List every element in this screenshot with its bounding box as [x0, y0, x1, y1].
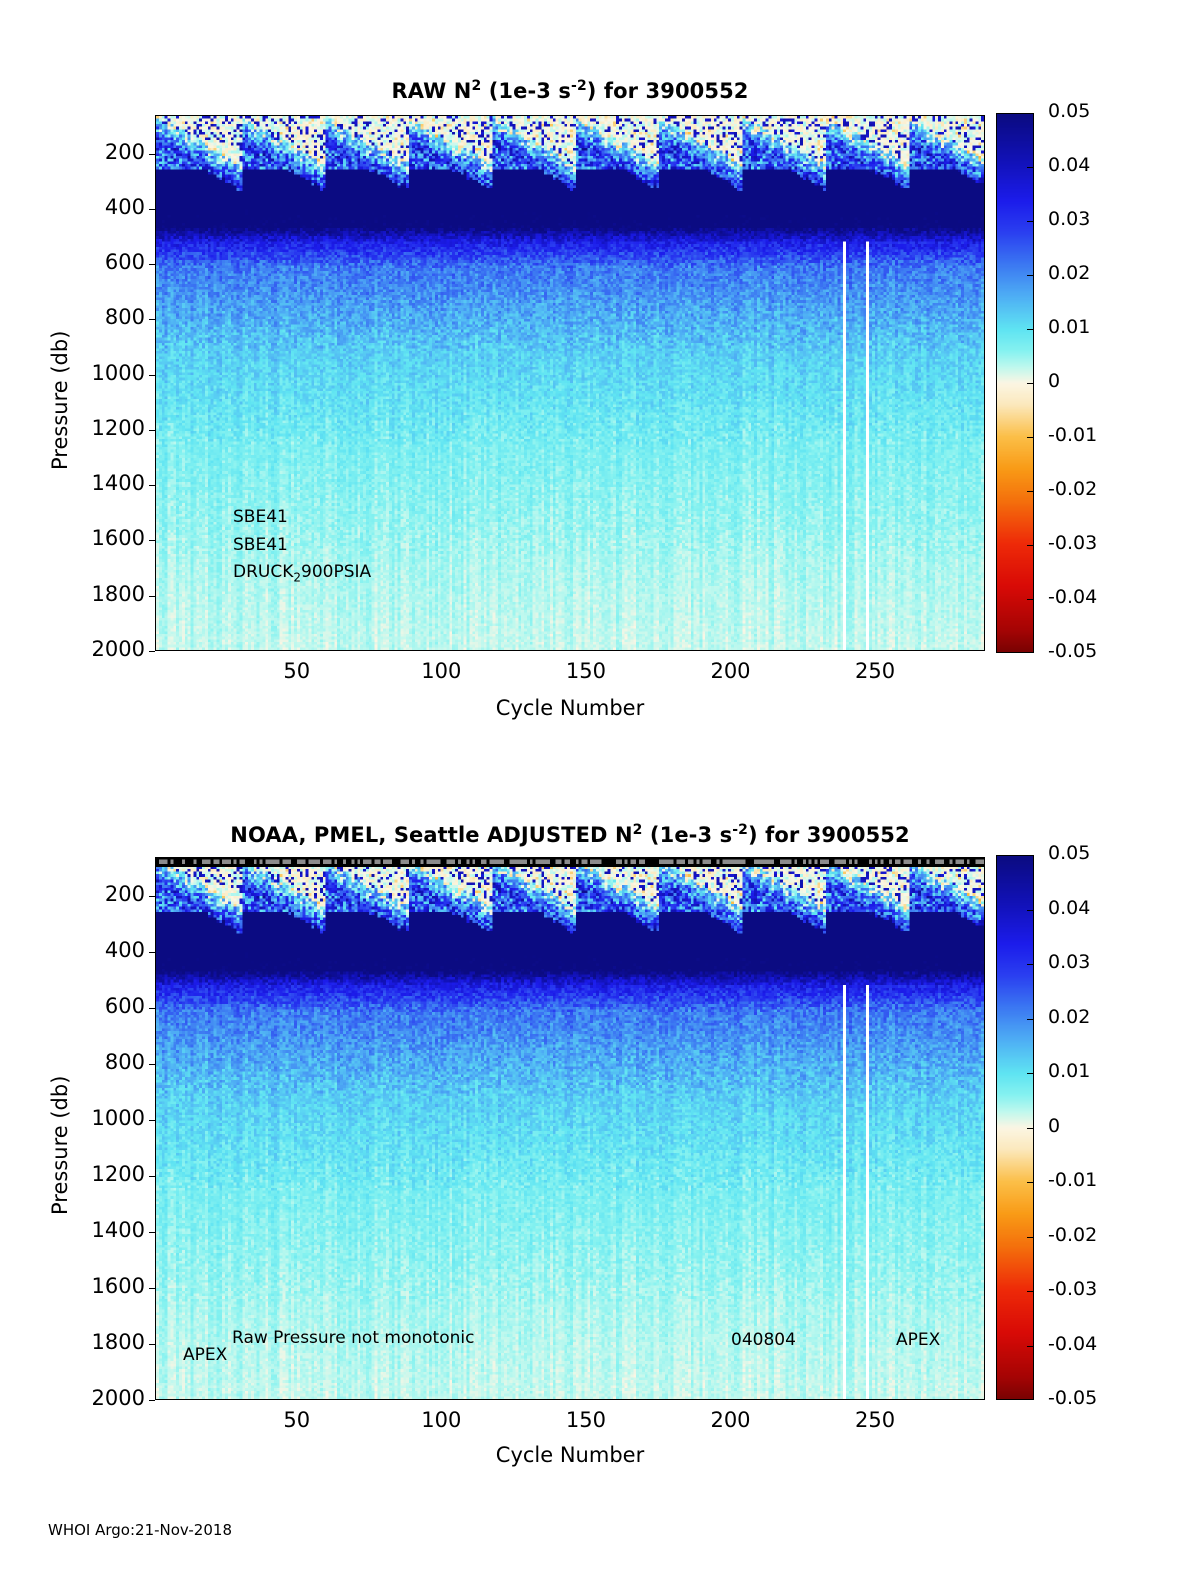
- colorbar-tick-mark-0-6: [1027, 437, 1034, 438]
- colorbar-tick-mark-0-9: [1027, 599, 1034, 600]
- plot-title-raw: RAW N2 (1e-3 s-2) for 3900552: [155, 78, 985, 103]
- colorbar-tick-mark-0-7: [1027, 491, 1034, 492]
- colorbar-tick-label-0-10: -0.05: [1048, 640, 1097, 662]
- y-tick-label-1-1000: 1000: [47, 1106, 145, 1130]
- y-tick-mark-0-1800: [149, 596, 155, 597]
- colorbar-tick-mark-1-8: [1027, 1291, 1034, 1292]
- y-tick-label-1-1400: 1400: [47, 1218, 145, 1242]
- annotation-druck-text: DRUCK: [233, 562, 293, 582]
- y-tick-mark-0-800: [149, 319, 155, 320]
- colorbar-tick-mark-0-5: [1027, 383, 1034, 384]
- x-tick-label-1-50: 50: [255, 1408, 339, 1432]
- colorbar-tick-label-0-7: -0.02: [1048, 478, 1097, 500]
- y-tick-mark-0-1600: [149, 540, 155, 541]
- title-text-mid: (1e-3 s: [481, 79, 571, 103]
- y-tick-mark-1-1200: [149, 1176, 155, 1177]
- colorbar-tick-mark-0-1: [1027, 167, 1034, 168]
- y-tick-mark-1-2000: [149, 1400, 155, 1401]
- y-tick-mark-1-1000: [149, 1120, 155, 1121]
- colorbar-tick-label-1-7: -0.02: [1048, 1224, 1097, 1246]
- colorbar-tick-mark-0-3: [1027, 275, 1034, 276]
- colorbar-tick-mark-1-9: [1027, 1346, 1034, 1347]
- annotation-apex-left: APEX: [183, 1345, 227, 1365]
- annotation-apex-right: APEX: [896, 1330, 940, 1350]
- colorbar-tick-label-0-1: 0.04: [1048, 154, 1090, 176]
- y-tick-label-1-200: 200: [47, 882, 145, 906]
- colorbar-tick-mark-1-5: [1027, 1128, 1034, 1129]
- colorbar-tick-label-0-8: -0.03: [1048, 532, 1097, 554]
- y-tick-label-0-600: 600: [47, 250, 145, 274]
- y-tick-label-0-1400: 1400: [47, 471, 145, 495]
- annotation-sbe41-b: SBE41: [233, 535, 288, 555]
- y-tick-mark-0-2000: [149, 651, 155, 652]
- colorbar-tick-label-0-4: 0.01: [1048, 316, 1090, 338]
- annotation-float-code: 040804: [731, 1330, 796, 1350]
- y-tick-mark-1-1600: [149, 1288, 155, 1289]
- figure-footer: WHOI Argo:21-Nov-2018: [48, 1521, 232, 1539]
- colorbar-tick-label-1-5: 0: [1048, 1115, 1060, 1137]
- title-superscript-minus2: -2: [571, 78, 587, 94]
- y-tick-mark-0-400: [149, 209, 155, 210]
- y-axis-label-raw: Pressure (db): [48, 331, 72, 470]
- y-tick-mark-0-1200: [149, 430, 155, 431]
- colorbar-tick-mark-1-4: [1027, 1073, 1034, 1074]
- colorbar-tick-label-0-3: 0.02: [1048, 262, 1090, 284]
- y-axis-label-adjusted: Pressure (db): [48, 1076, 72, 1215]
- title-superscript-2: 2: [471, 78, 481, 94]
- colorbar-tick-mark-1-6: [1027, 1182, 1034, 1183]
- colorbar-tick-mark-1-3: [1027, 1019, 1034, 1020]
- y-tick-label-0-200: 200: [47, 140, 145, 164]
- plot-title-adjusted: NOAA, PMEL, Seattle ADJUSTED N2 (1e-3 s-…: [100, 822, 1040, 847]
- x-tick-label-0-50: 50: [255, 659, 339, 683]
- y-tick-label-1-2000: 2000: [47, 1386, 145, 1410]
- colorbar-tick-label-1-3: 0.02: [1048, 1006, 1090, 1028]
- title-adj-text-end: ) for 3900552: [748, 823, 910, 847]
- x-tick-label-0-150: 150: [544, 659, 628, 683]
- y-tick-label-1-800: 800: [47, 1050, 145, 1074]
- colorbar-tick-label-1-1: 0.04: [1048, 897, 1090, 919]
- colorbar-tick-label-1-4: 0.01: [1048, 1060, 1090, 1082]
- x-tick-label-1-100: 100: [399, 1408, 483, 1432]
- y-tick-mark-0-1000: [149, 375, 155, 376]
- x-tick-label-1-150: 150: [544, 1408, 628, 1432]
- x-axis-label-adjusted: Cycle Number: [155, 1443, 985, 1467]
- colorbar-tick-label-0-9: -0.04: [1048, 586, 1097, 608]
- x-tick-label-1-200: 200: [689, 1408, 773, 1432]
- colorbar-tick-label-0-0: 0.05: [1048, 100, 1090, 122]
- y-tick-label-1-1800: 1800: [47, 1330, 145, 1354]
- colorbar-tick-mark-0-2: [1027, 221, 1034, 222]
- x-axis-label-raw: Cycle Number: [155, 696, 985, 720]
- y-tick-label-0-1800: 1800: [47, 582, 145, 606]
- annotation-pressure-not-monotonic: Raw Pressure not monotonic: [232, 1328, 474, 1348]
- y-tick-mark-0-600: [149, 264, 155, 265]
- y-tick-label-1-1200: 1200: [47, 1162, 145, 1186]
- y-tick-mark-1-800: [149, 1064, 155, 1065]
- heatmap-plot-adjusted[interactable]: [155, 857, 985, 1400]
- annotation-druck-subscript: 2: [293, 570, 301, 584]
- colorbar-tick-label-1-8: -0.03: [1048, 1278, 1097, 1300]
- colorbar-tick-mark-1-2: [1027, 964, 1034, 965]
- heatmap-canvas-adjusted: [156, 858, 984, 1399]
- y-tick-mark-1-1800: [149, 1344, 155, 1345]
- colorbar-tick-mark-0-4: [1027, 329, 1034, 330]
- title-adj-superscript-minus2: -2: [732, 822, 748, 838]
- x-tick-label-0-250: 250: [833, 659, 917, 683]
- title-adj-text-mid: (1e-3 s: [643, 823, 733, 847]
- y-tick-mark-0-1400: [149, 485, 155, 486]
- title-adj-superscript-2: 2: [633, 822, 643, 838]
- colorbar-tick-label-0-6: -0.01: [1048, 424, 1097, 446]
- y-tick-mark-1-1400: [149, 1232, 155, 1233]
- colorbar-tick-mark-1-1: [1027, 910, 1034, 911]
- colorbar-tick-mark-1-7: [1027, 1237, 1034, 1238]
- y-tick-label-0-1000: 1000: [47, 361, 145, 385]
- colorbar-tick-label-1-9: -0.04: [1048, 1333, 1097, 1355]
- colorbar-tick-label-1-6: -0.01: [1048, 1169, 1097, 1191]
- annotation-druck-sensor: DRUCK2900PSIA: [233, 562, 371, 584]
- colorbar-tick-label-1-10: -0.05: [1048, 1387, 1097, 1409]
- colorbar-tick-label-1-2: 0.03: [1048, 951, 1090, 973]
- colorbar-tick-label-0-5: 0: [1048, 370, 1060, 392]
- annotation-sbe41-a: SBE41: [233, 507, 288, 527]
- y-tick-label-0-1200: 1200: [47, 416, 145, 440]
- qc-flag-strip: [156, 858, 984, 867]
- y-tick-label-0-1600: 1600: [47, 526, 145, 550]
- title-text-end: ) for 3900552: [587, 79, 749, 103]
- y-tick-label-1-400: 400: [47, 938, 145, 962]
- x-tick-label-0-100: 100: [399, 659, 483, 683]
- title-text-main: RAW N: [391, 79, 471, 103]
- x-tick-label-0-200: 200: [689, 659, 773, 683]
- colorbar-tick-label-1-0: 0.05: [1048, 842, 1090, 864]
- x-tick-label-1-250: 250: [833, 1408, 917, 1432]
- y-tick-label-0-800: 800: [47, 305, 145, 329]
- colorbar-tick-mark-0-8: [1027, 545, 1034, 546]
- y-tick-mark-1-200: [149, 896, 155, 897]
- y-tick-label-0-400: 400: [47, 195, 145, 219]
- y-tick-label-1-600: 600: [47, 994, 145, 1018]
- y-tick-mark-1-400: [149, 952, 155, 953]
- title-adj-text-main: NOAA, PMEL, Seattle ADJUSTED N: [230, 823, 632, 847]
- colorbar-tick-label-0-2: 0.03: [1048, 208, 1090, 230]
- qc-flag-canvas: [156, 858, 984, 867]
- y-tick-mark-1-600: [149, 1008, 155, 1009]
- y-tick-mark-0-200: [149, 154, 155, 155]
- y-tick-label-0-2000: 2000: [47, 637, 145, 661]
- y-tick-label-1-1600: 1600: [47, 1274, 145, 1298]
- annotation-druck-psia: 900PSIA: [301, 562, 371, 582]
